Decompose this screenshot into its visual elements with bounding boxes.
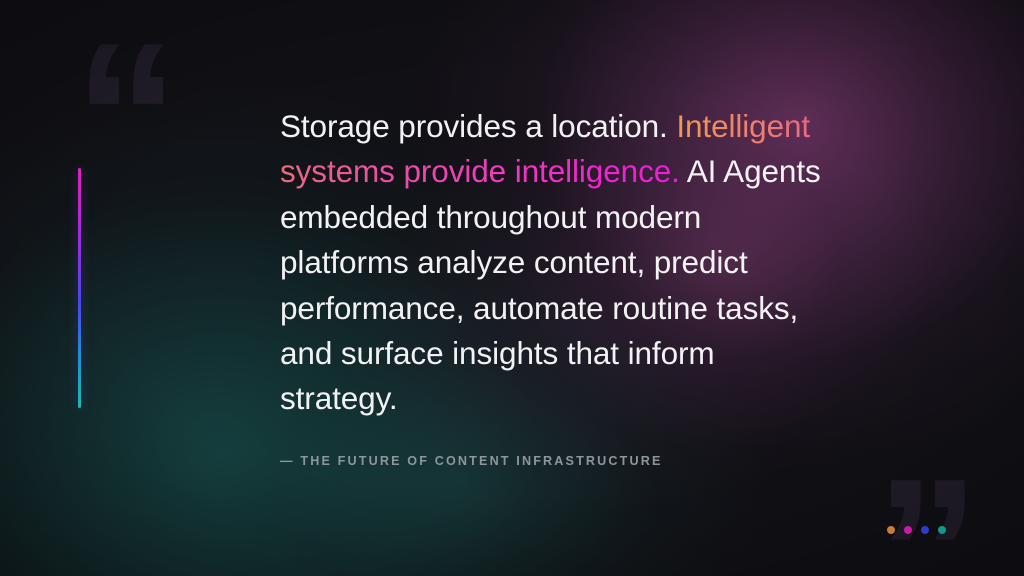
decorative-close-quote-icon: “ <box>875 362 980 572</box>
quote-content: Storage provides a location. Intelligent… <box>280 104 825 468</box>
decorative-open-quote-icon: “ <box>74 12 179 222</box>
dot-magenta <box>904 526 912 534</box>
quote-lead-text: Storage provides a location. <box>280 108 676 144</box>
gradient-accent-bar <box>78 168 81 408</box>
dot-orange <box>887 526 895 534</box>
quote-tail-text: AI Agents embedded throughout modern pla… <box>280 153 821 416</box>
palette-dots <box>887 526 946 534</box>
quote-attribution: — THE FUTURE OF CONTENT INFRASTRUCTURE <box>280 454 825 468</box>
quote-slide: “ “ Storage provides a location. Intelli… <box>0 0 1024 576</box>
dot-blue <box>921 526 929 534</box>
dot-teal <box>938 526 946 534</box>
quote-text: Storage provides a location. Intelligent… <box>280 104 825 422</box>
